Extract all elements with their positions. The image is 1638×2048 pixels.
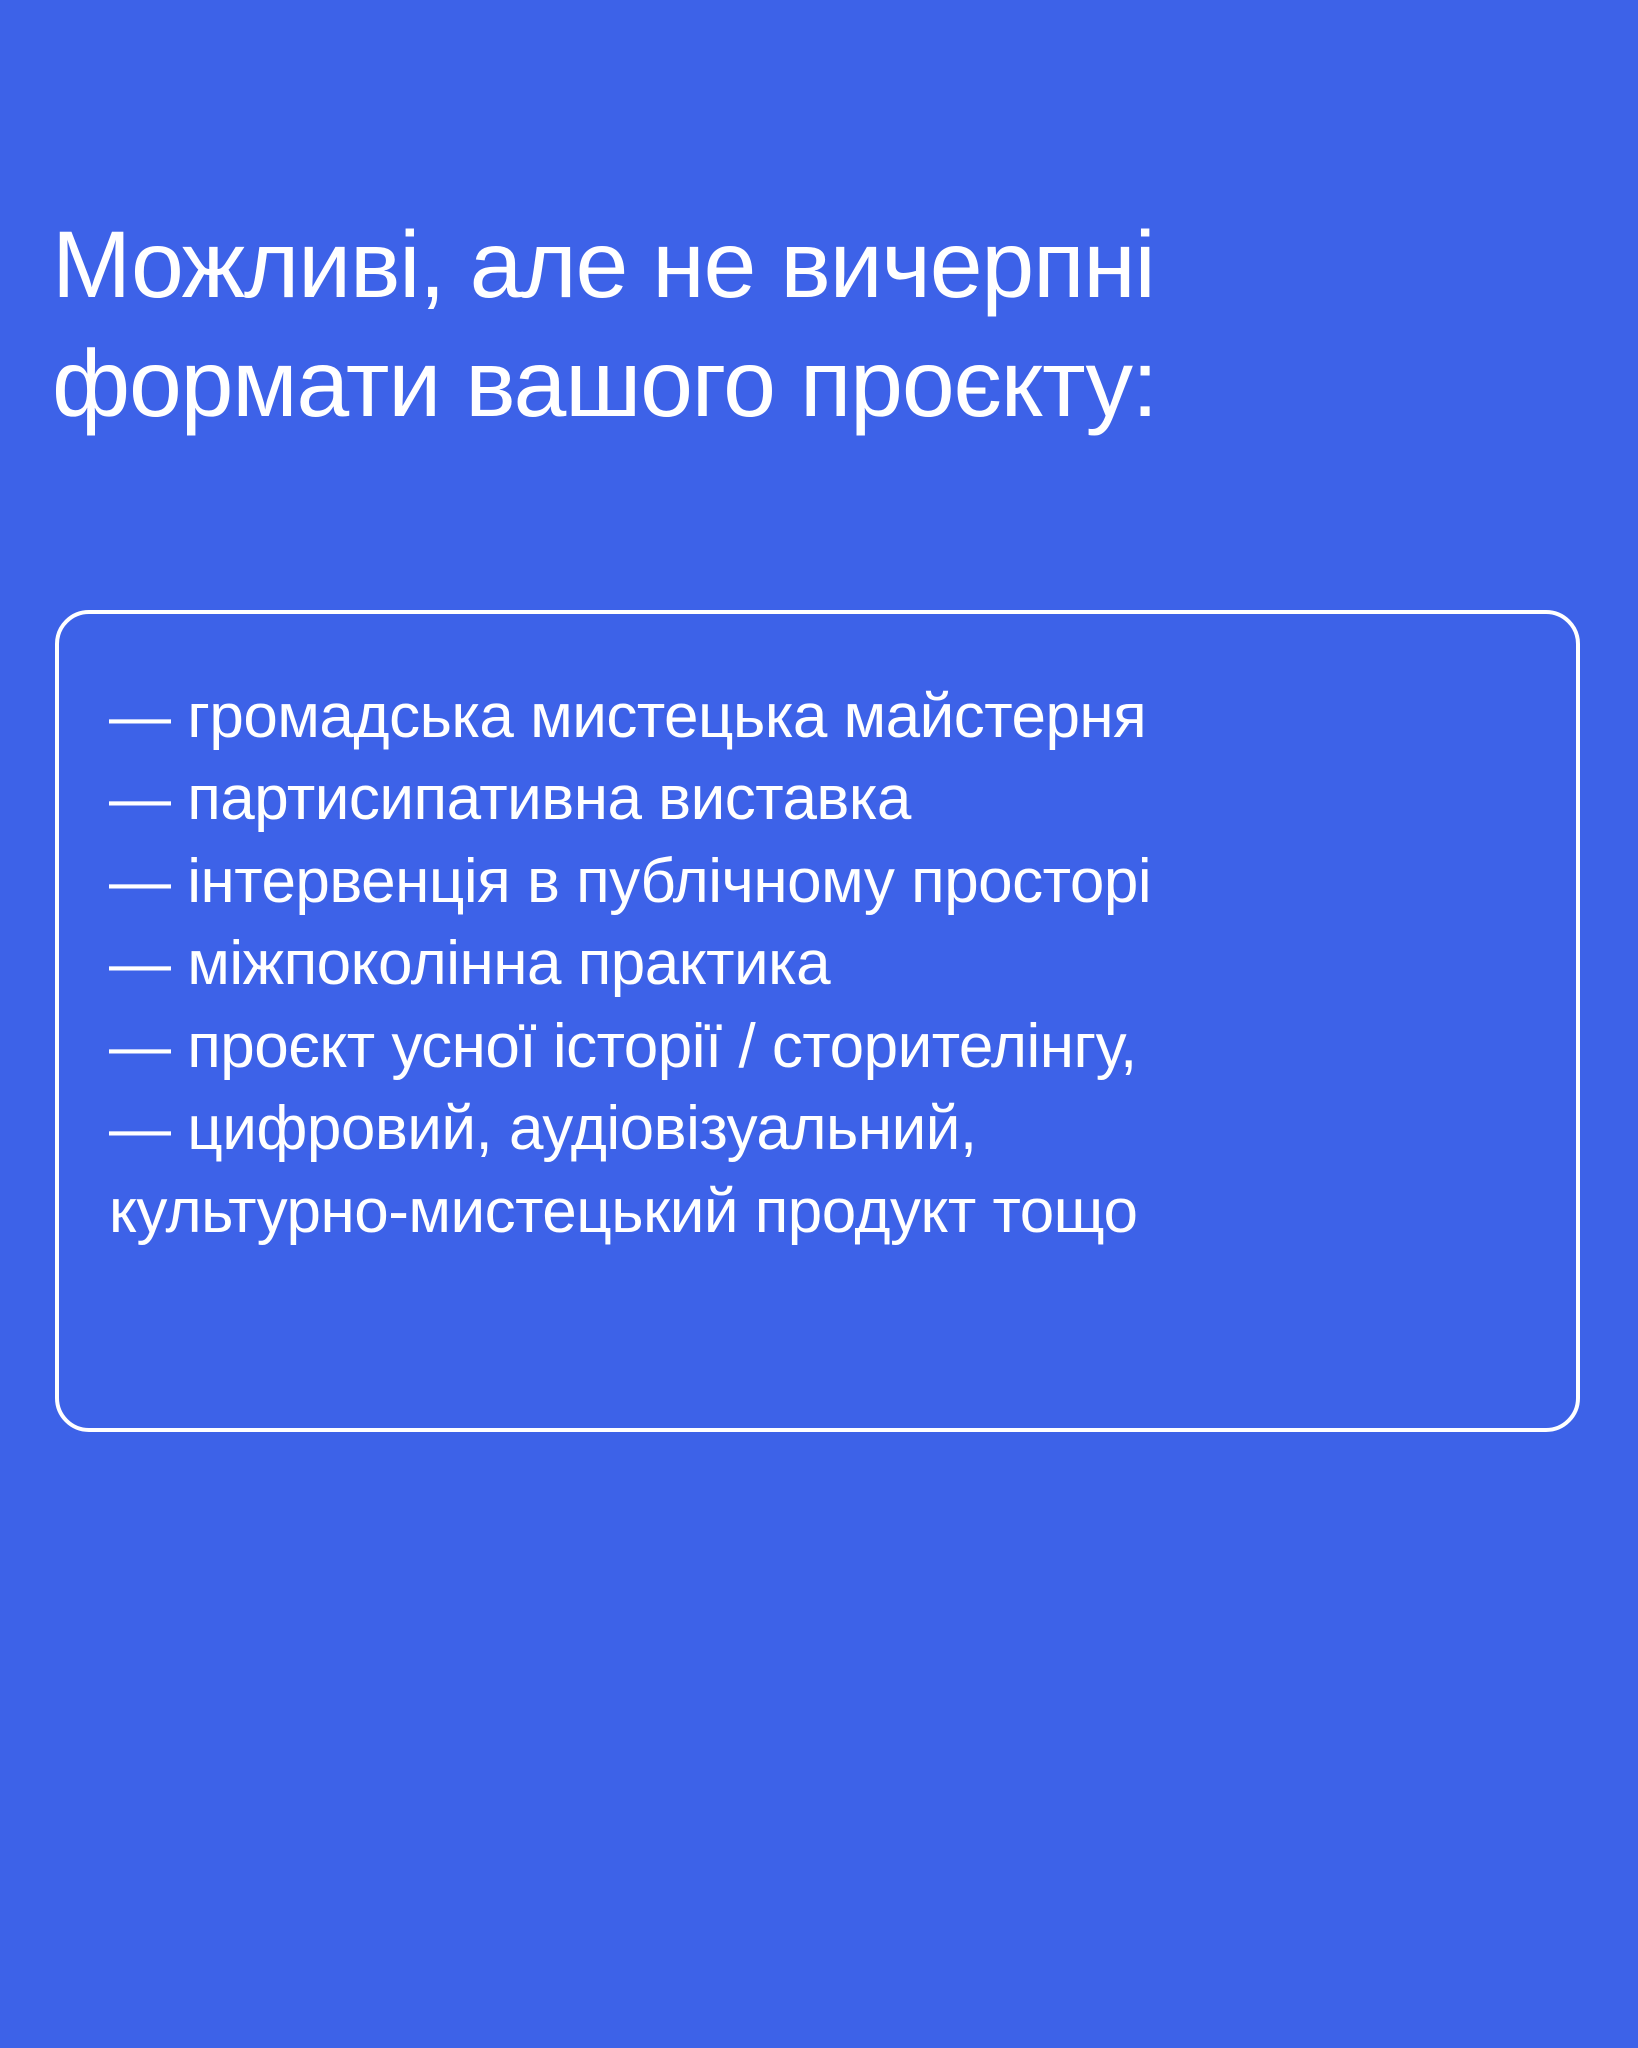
page-title: Можливі, але не вичерпні формати вашого … xyxy=(52,206,1512,444)
list-item: — інтервенція в публічному просторі xyxy=(109,841,1536,923)
list-item: — цифровий, аудіовізуальний, культурно-м… xyxy=(109,1088,1536,1253)
slide-canvas: Можливі, але не вичерпні формати вашого … xyxy=(0,0,1638,2048)
list-item: — проєкт усної історії / сторителінгу, xyxy=(109,1006,1536,1088)
list-item: — громадська мистецька майстерня xyxy=(109,676,1536,758)
list-item: — міжпоколінна практика xyxy=(109,923,1536,1005)
formats-list: — громадська мистецька майстерня — парти… xyxy=(109,676,1536,1253)
formats-card: — громадська мистецька майстерня — парти… xyxy=(55,610,1580,1432)
list-item: — партисипативна виставка xyxy=(109,758,1536,840)
